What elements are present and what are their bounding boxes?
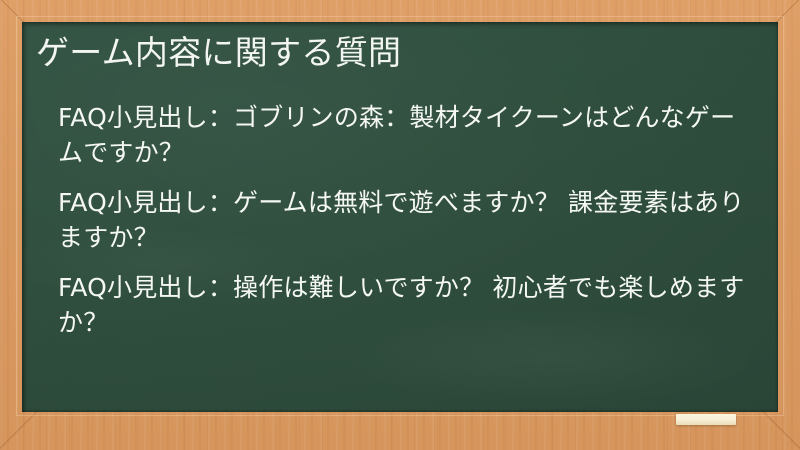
page-title: ゲーム内容に関する質問: [36, 32, 756, 74]
chalkboard-frame: ゲーム内容に関する質問 FAQ小見出し：ゴブリンの森：製材タイクーンはどんなゲー…: [0, 0, 800, 450]
faq-list-item: FAQ小見出し：操作は難しいですか？ 初心者でも楽しめますか？: [58, 270, 758, 340]
faq-list-item: FAQ小見出し：ゴブリンの森：製材タイクーンはどんなゲームですか？: [58, 100, 758, 170]
faq-list: FAQ小見出し：ゴブリンの森：製材タイクーンはどんなゲームですか？ FAQ小見出…: [58, 100, 758, 340]
chalk-stick-icon: [676, 414, 736, 425]
faq-list-item: FAQ小見出し：ゲームは無料で遊べますか？ 課金要素はありますか？: [58, 185, 758, 255]
chalkboard-surface: ゲーム内容に関する質問 FAQ小見出し：ゴブリンの森：製材タイクーンはどんなゲー…: [22, 22, 778, 412]
